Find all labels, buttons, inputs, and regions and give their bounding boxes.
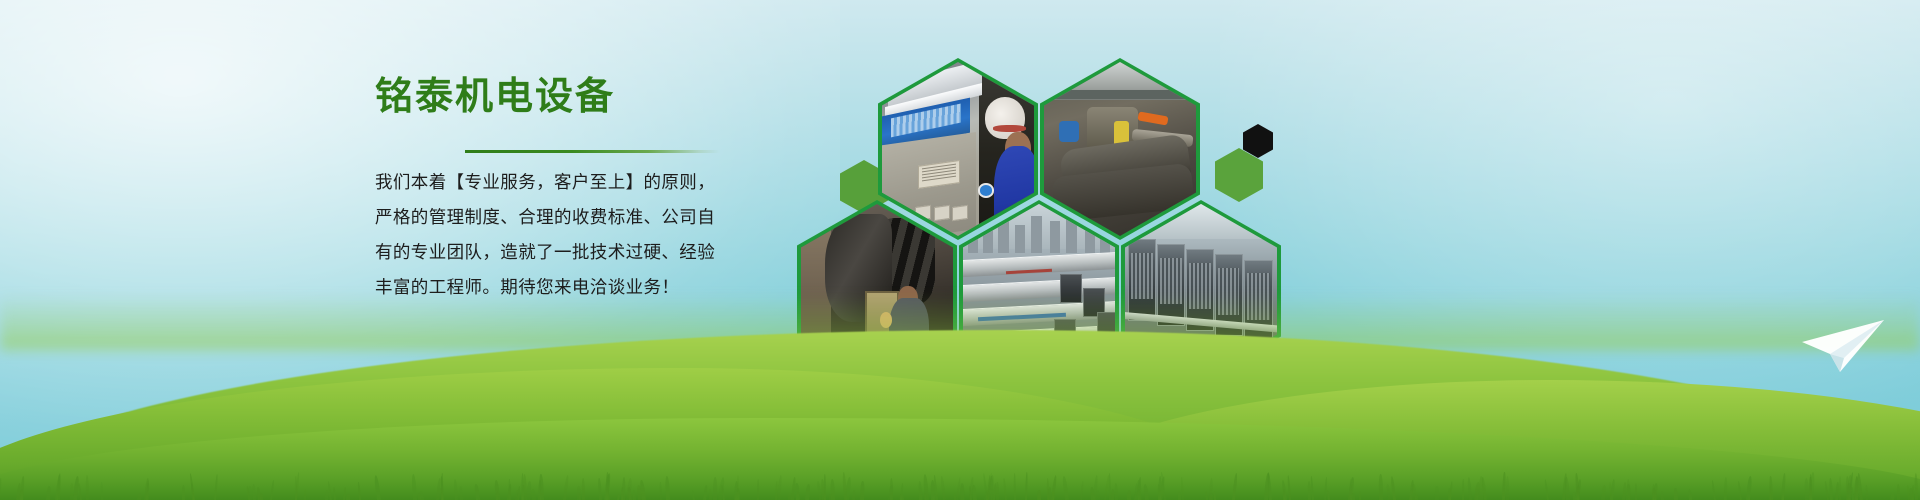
- hex-photo-chiller-compressor[interactable]: [1040, 58, 1200, 240]
- photo-air-handling-unit: [882, 62, 1034, 236]
- description-line: 有的专业团队，造就了一批技术过硬、经验: [375, 236, 795, 271]
- photo-chiller-compressor: [1044, 62, 1196, 236]
- hex-photo-clip: [882, 62, 1034, 236]
- description-line: 严格的管理制度、合理的收费标准、公司自: [375, 201, 795, 236]
- title-divider: [465, 150, 720, 153]
- page-title: 铭泰机电设备: [375, 76, 795, 118]
- paper-plane-icon: [1800, 318, 1886, 374]
- description-line: 我们本着【专业服务，客户至上】的原则，: [375, 166, 795, 201]
- grass-field: [0, 270, 1920, 500]
- hex-photo-air-handling-unit[interactable]: [878, 58, 1038, 240]
- hero-banner: 铭泰机电设备 我们本着【专业服务，客户至上】的原则， 严格的管理制度、合理的收费…: [0, 0, 1920, 500]
- hex-photo-clip: [1044, 62, 1196, 236]
